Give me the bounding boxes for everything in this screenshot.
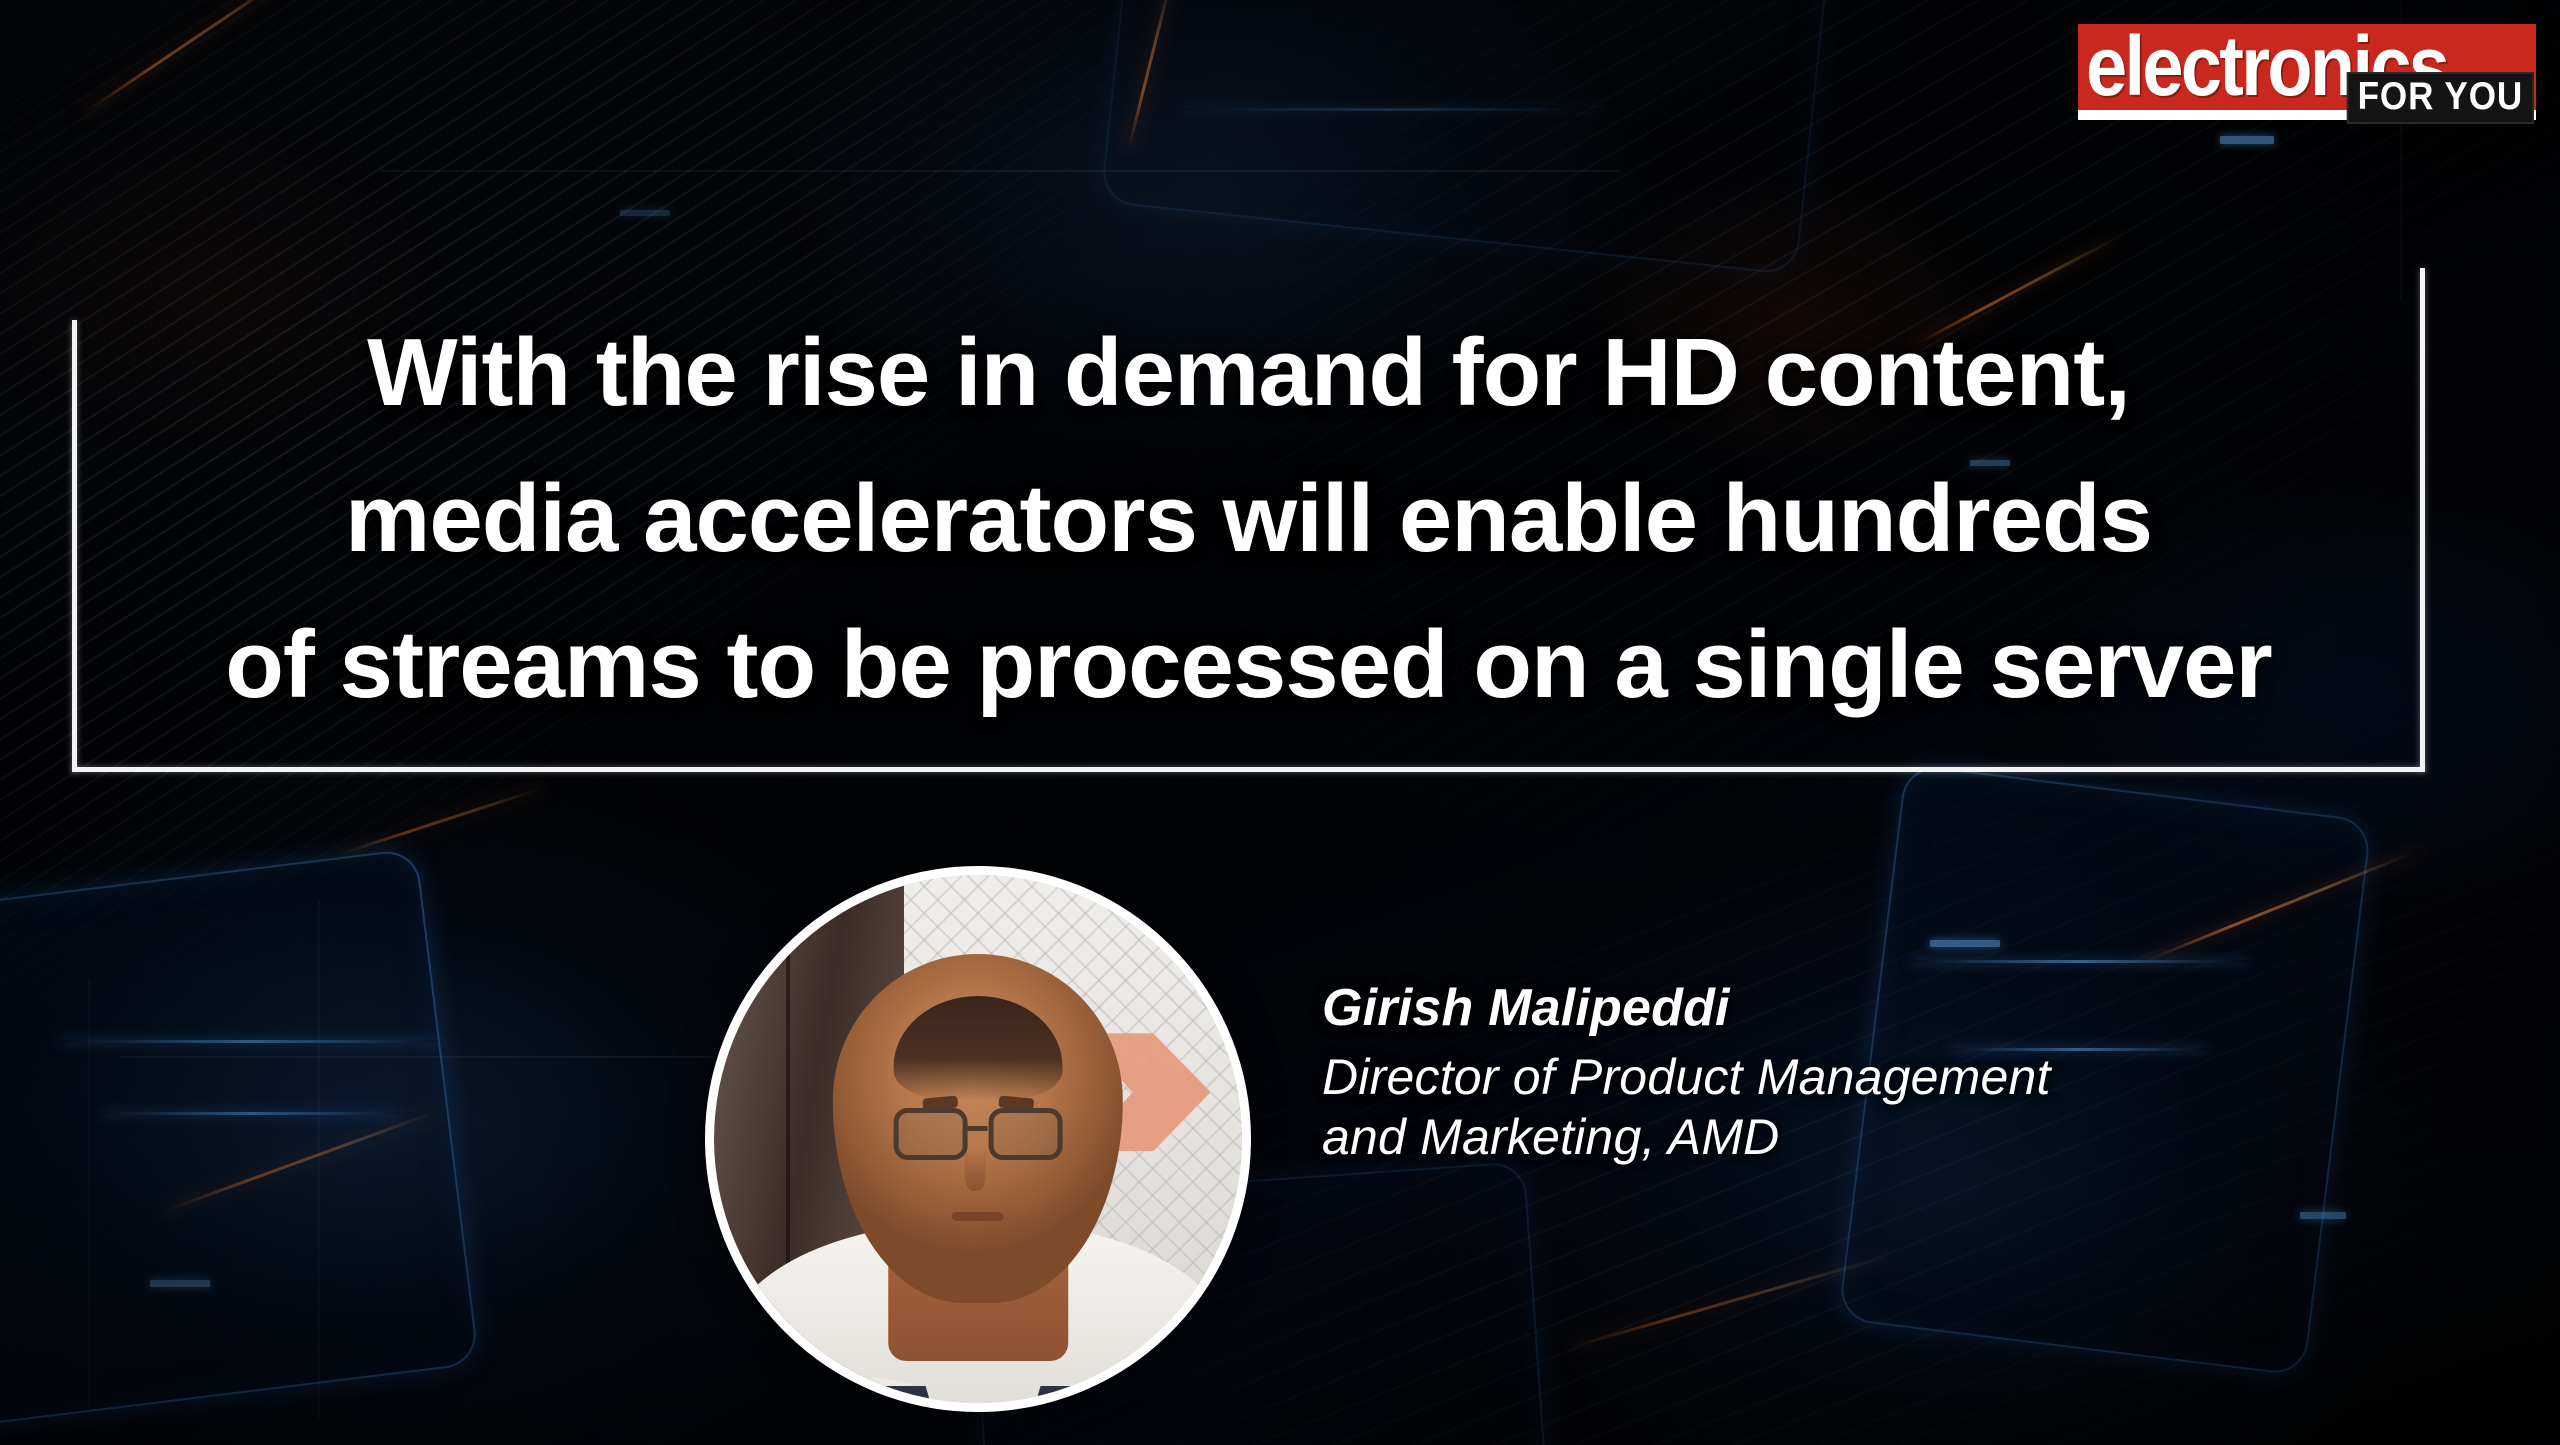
data-blip-6	[620, 210, 670, 216]
quote-card-slide: electronics FOR YOU With the rise in dem…	[0, 0, 2560, 1445]
quote-line-2: media accelerators will enable hundreds	[72, 446, 2425, 592]
architecture-line-h1	[380, 170, 1620, 172]
avatar-hair	[894, 996, 1062, 1101]
hud-panel-left	[0, 848, 480, 1432]
avatar-mouth	[952, 1212, 1004, 1221]
hud-glow-line-2	[100, 1112, 400, 1115]
speaker-title: Director of Product Management and Marke…	[1322, 1047, 2422, 1167]
speaker-name: Girish Malipeddi	[1322, 977, 2422, 1039]
avatar-collar-right	[1027, 1386, 1127, 1403]
hud-glow-line-1	[60, 1040, 440, 1043]
avatar-collar-left	[839, 1386, 939, 1403]
data-blip-3	[2300, 1212, 2346, 1219]
hud-glow-line-5	[1180, 108, 1600, 111]
avatar-nose	[965, 1149, 985, 1191]
quote-line-3: of streams to be processed on a single s…	[72, 592, 2425, 738]
quote-line-1: With the rise in demand for HD content,	[72, 300, 2425, 446]
logo-tagline: FOR YOU	[2347, 72, 2534, 124]
architecture-line-h2	[120, 1056, 740, 1058]
avatar-glasses-bridge	[968, 1126, 988, 1131]
quote-text: With the rise in demand for HD content, …	[72, 300, 2425, 738]
speaker-title-line-2: and Marketing, AMD	[1322, 1107, 2422, 1167]
speaker-avatar	[705, 866, 1251, 1412]
data-blip-1	[2220, 136, 2274, 144]
efy-logo[interactable]: electronics FOR YOU	[2078, 24, 2536, 120]
data-blip-4	[150, 1280, 210, 1287]
speaker-title-line-1: Director of Product Management	[1322, 1047, 2422, 1107]
avatar-photo	[714, 875, 1242, 1403]
quote-frame-bottom-rule	[72, 767, 2425, 772]
avatar-lens-right	[988, 1108, 1062, 1160]
architecture-line-v3	[88, 980, 90, 1410]
speaker-credit: Girish Malipeddi Director of Product Man…	[1322, 977, 2422, 1167]
avatar-lens-left	[894, 1108, 968, 1160]
hud-glow-line-3	[1910, 960, 2250, 963]
data-blip-2	[1930, 940, 2000, 947]
architecture-line-v2	[318, 900, 320, 1420]
